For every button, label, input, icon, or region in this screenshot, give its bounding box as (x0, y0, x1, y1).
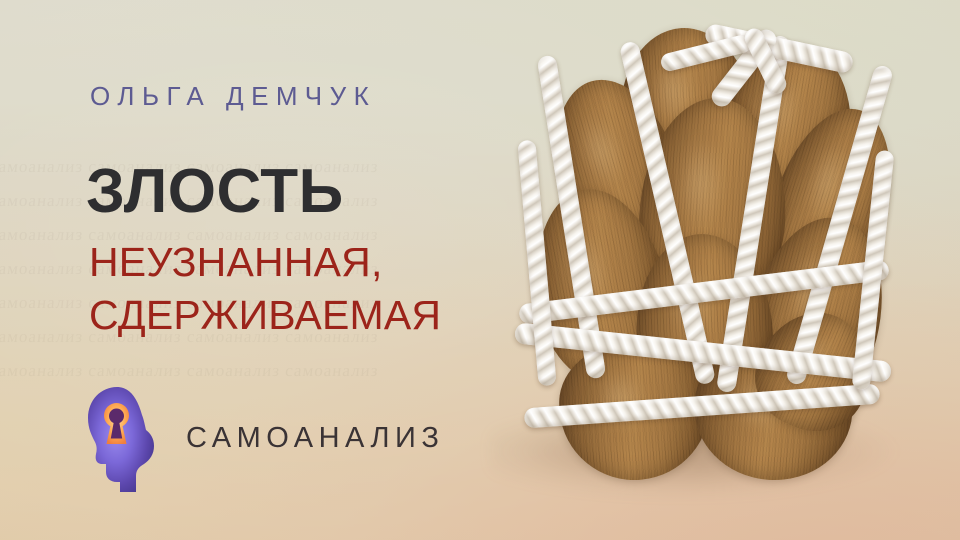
poster-canvas: самоанализ самоанализ самоанализ самоана… (0, 0, 960, 540)
subtitle-line-1: НЕУЗНАННАЯ, (89, 239, 383, 286)
brand-lockup[interactable]: САМОАНАЛИЗ (84, 384, 444, 496)
sculpture-photo (470, 0, 960, 540)
brand-name: САМОАНАЛИЗ (186, 422, 444, 459)
page-title: ЗЛОСТЬ (86, 156, 344, 227)
author-name: ОЛЬГА ДЕМЧУК (90, 81, 376, 112)
subtitle-line-2: СДЕРЖИВАЕМАЯ (89, 292, 441, 339)
sculpture-body (508, 20, 896, 490)
head-keyhole-icon (84, 384, 162, 496)
